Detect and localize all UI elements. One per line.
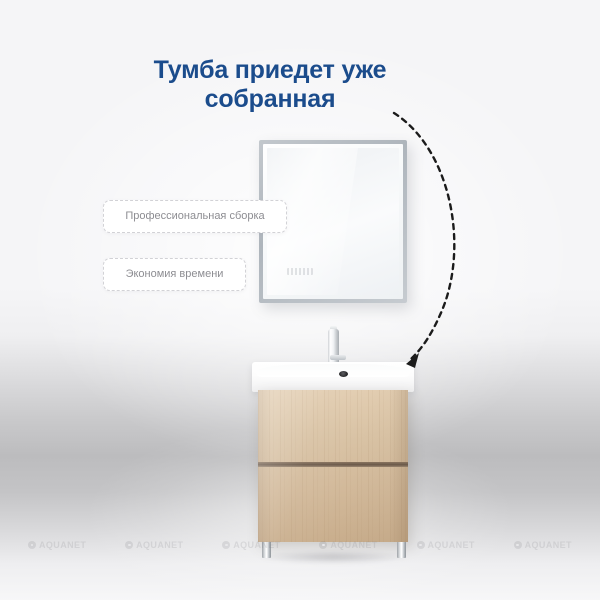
vanity-cabinet [258, 390, 408, 542]
drain-icon [339, 371, 348, 377]
cabinet-leg-left [262, 542, 271, 558]
faucet-spout [330, 355, 346, 360]
feature-badge-time-saving: Экономия времени [103, 258, 246, 291]
page-title: Тумба приедет уже собранная [60, 56, 480, 115]
washbasin-bowl [256, 364, 410, 377]
vanity-floor-shadow [246, 549, 420, 565]
washbasin [252, 362, 414, 392]
headline-line-2: собранная [60, 85, 480, 114]
product-banner: Тумба приедет уже собранная Профессионал… [0, 0, 600, 600]
mirror-touch-sensor-icon [287, 268, 313, 275]
headline-line-1: Тумба приедет уже [154, 56, 387, 84]
cabinet-leg-right [397, 542, 406, 558]
feature-badge-professional-assembly: Профессиональная сборка [103, 200, 287, 233]
feature-badge-label: Экономия времени [126, 269, 224, 280]
feature-badge-label: Профессиональная сборка [125, 211, 264, 222]
cabinet-sheen [258, 390, 408, 542]
